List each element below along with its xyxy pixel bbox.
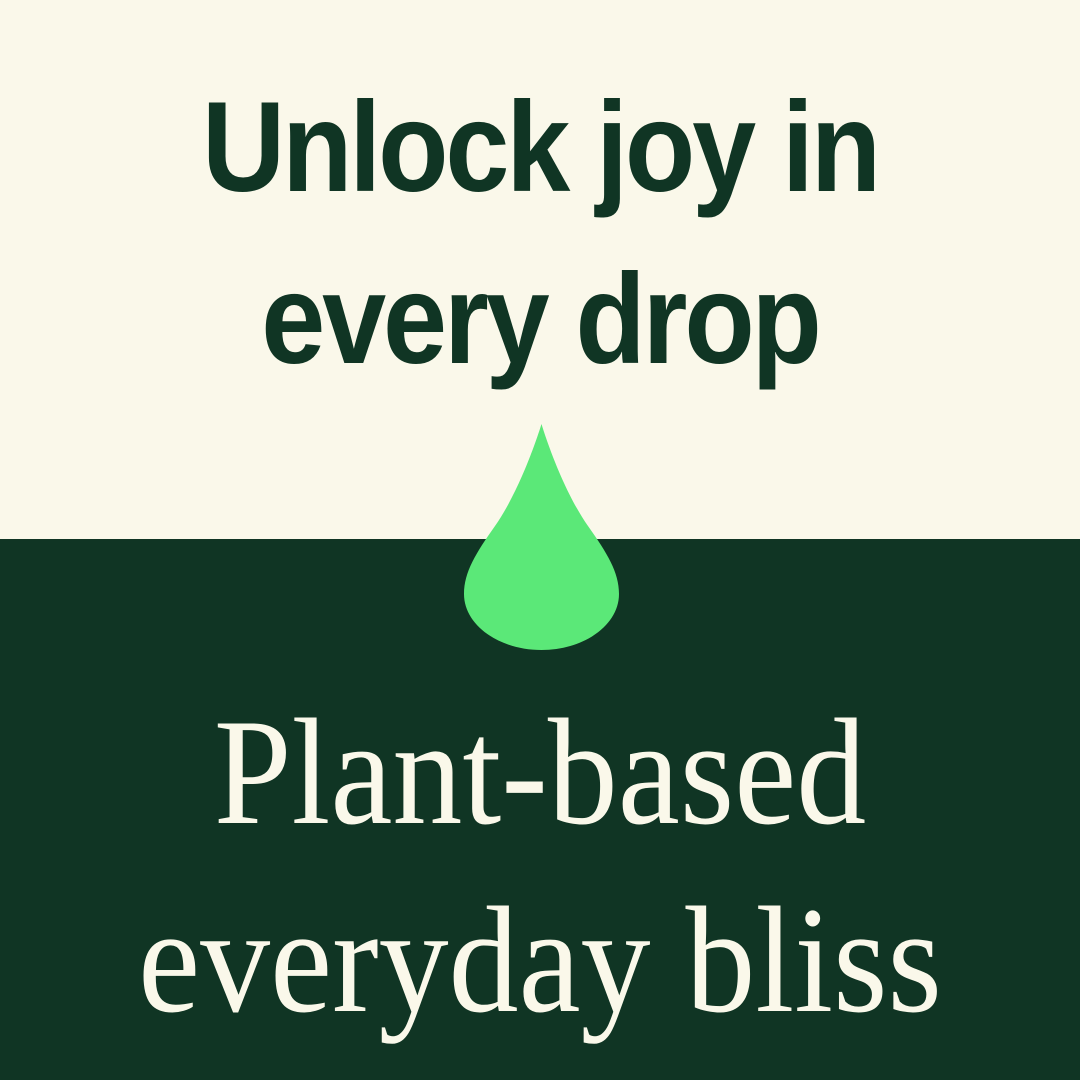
headline: Unlock joy in every drop — [54, 62, 1026, 406]
headline-line-2: every drop — [54, 234, 1026, 406]
subheading-line-2: everyday bliss — [43, 866, 1037, 1054]
water-droplet-icon — [464, 424, 619, 650]
headline-line-1: Unlock joy in — [54, 62, 1026, 234]
subheading-line-1: Plant-based — [43, 678, 1037, 866]
promo-poster: Unlock joy in every drop Plant-based eve… — [0, 0, 1080, 1080]
subheading: Plant-based everyday bliss — [43, 678, 1037, 1054]
